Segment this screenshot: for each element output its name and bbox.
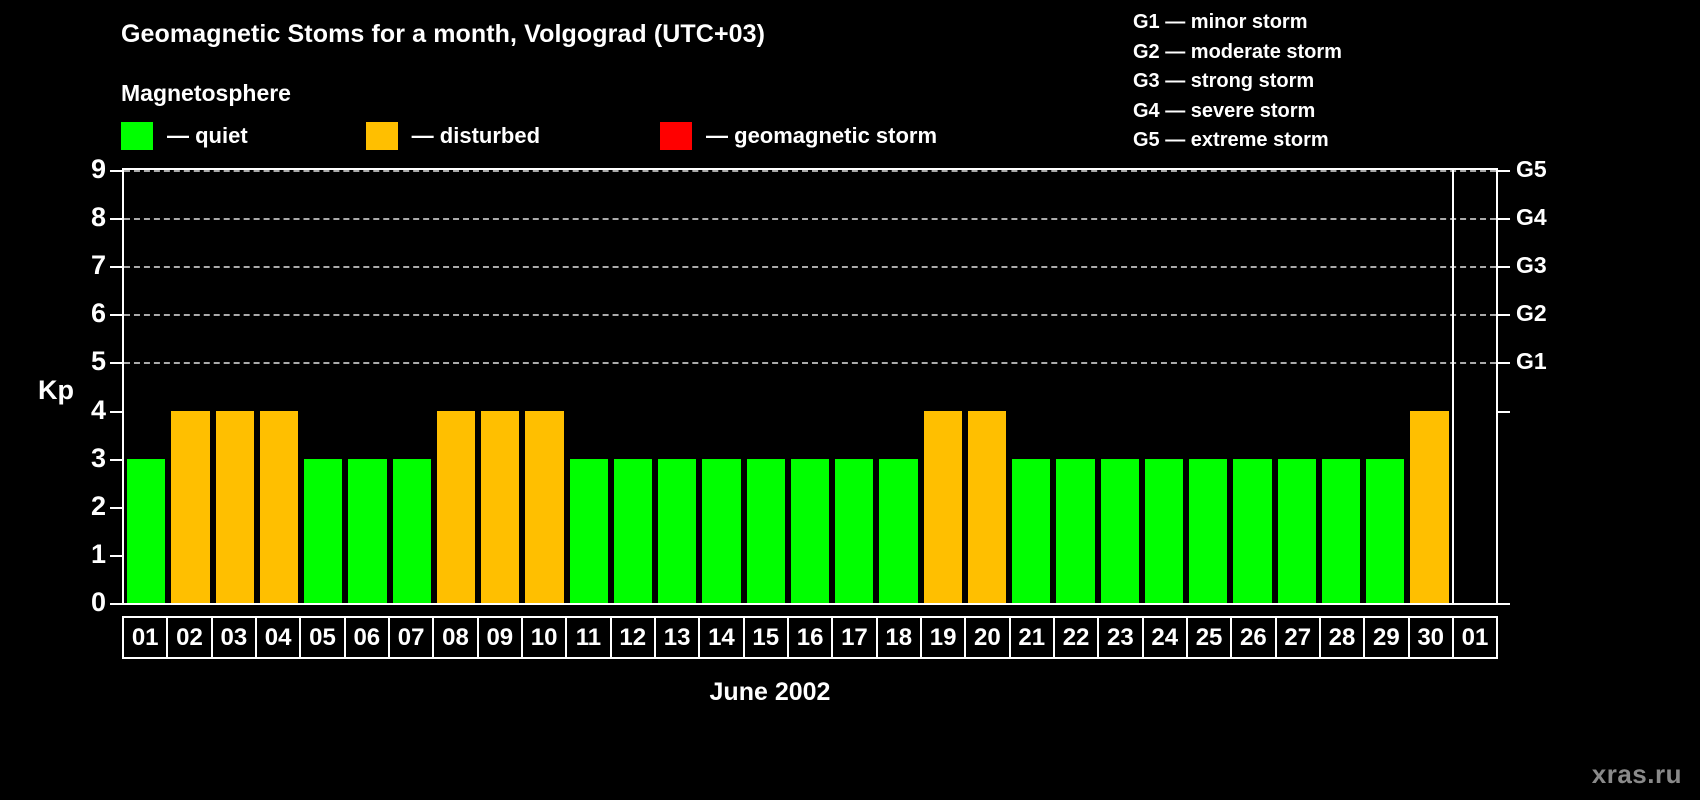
day-label-11[interactable]: 12 <box>612 618 656 657</box>
legend-entry-1: — disturbed <box>366 122 540 150</box>
g-axis-tick-kp-4 <box>1498 411 1510 413</box>
day-label-30[interactable]: 01 <box>1454 618 1496 657</box>
y-tick-3 <box>110 459 122 461</box>
y-tick-0 <box>110 603 122 605</box>
bar-day-13[interactable] <box>658 459 696 603</box>
day-label-23[interactable]: 24 <box>1144 618 1188 657</box>
gscale-row-3: G3 — strong storm <box>1133 67 1342 97</box>
y-tick-label-1: 1 <box>66 541 106 568</box>
red-square-icon <box>660 122 692 150</box>
bar-day-19[interactable] <box>924 411 962 603</box>
bar-day-15[interactable] <box>747 459 785 603</box>
g-axis-tick-kp-0 <box>1498 603 1510 605</box>
bar-day-10[interactable] <box>525 411 563 603</box>
y-tick-label-3: 3 <box>66 445 106 472</box>
legend-entry-0: — quiet <box>121 122 248 150</box>
g-axis-label-G4: G4 <box>1516 206 1576 229</box>
bar-day-02[interactable] <box>171 411 209 603</box>
bars-layer <box>124 170 1496 603</box>
bar-day-25[interactable] <box>1189 459 1227 603</box>
day-label-14[interactable]: 15 <box>745 618 789 657</box>
bar-day-16[interactable] <box>791 459 829 603</box>
month-separator <box>1452 170 1454 603</box>
bar-day-09[interactable] <box>481 411 519 603</box>
y-tick-label-8: 8 <box>66 204 106 231</box>
day-label-0[interactable]: 01 <box>124 618 168 657</box>
y-tick-label-5: 5 <box>66 348 106 375</box>
day-label-3[interactable]: 04 <box>257 618 301 657</box>
x-axis-title: June 2002 <box>0 678 1540 707</box>
plot-area <box>122 168 1498 605</box>
day-label-2[interactable]: 03 <box>213 618 257 657</box>
day-label-26[interactable]: 27 <box>1277 618 1321 657</box>
bar-day-14[interactable] <box>702 459 740 603</box>
gscale-row-4: G4 — severe storm <box>1133 97 1342 127</box>
bar-day-06[interactable] <box>348 459 386 603</box>
g-axis-tick-G5 <box>1498 170 1510 172</box>
g-axis-label-G3: G3 <box>1516 254 1576 277</box>
g-axis-tick-G2 <box>1498 314 1510 316</box>
day-label-29[interactable]: 30 <box>1410 618 1454 657</box>
bar-day-05[interactable] <box>304 459 342 603</box>
bar-day-24[interactable] <box>1145 459 1183 603</box>
legend-heading: Magnetosphere <box>121 80 291 107</box>
green-square-icon <box>121 122 153 150</box>
day-label-12[interactable]: 13 <box>656 618 700 657</box>
day-label-10[interactable]: 11 <box>567 618 611 657</box>
y-tick-label-6: 6 <box>66 300 106 327</box>
g-axis-tick-G4 <box>1498 218 1510 220</box>
y-axis-title: Kp <box>38 375 74 406</box>
day-label-16[interactable]: 17 <box>833 618 877 657</box>
legend-entry-label: — disturbed <box>412 123 540 149</box>
y-tick-1 <box>110 555 122 557</box>
bar-day-17[interactable] <box>835 459 873 603</box>
magnetosphere-legend: — quiet— disturbed— geomagnetic storm <box>121 122 937 150</box>
day-label-9[interactable]: 10 <box>523 618 567 657</box>
gscale-row-1: G1 — minor storm <box>1133 8 1342 38</box>
x-axis-day-labels: 0102030405060708091011121314151617181920… <box>122 616 1498 659</box>
bar-day-11[interactable] <box>570 459 608 603</box>
gscale-row-2: G2 — moderate storm <box>1133 38 1342 68</box>
y-tick-2 <box>110 507 122 509</box>
day-label-7[interactable]: 08 <box>434 618 478 657</box>
bar-day-07[interactable] <box>393 459 431 603</box>
bar-day-01[interactable] <box>127 459 165 603</box>
page-title: Geomagnetic Stoms for a month, Volgograd… <box>121 20 765 49</box>
gscale-row-5: G5 — extreme storm <box>1133 126 1342 156</box>
y-tick-6 <box>110 314 122 316</box>
bar-day-28[interactable] <box>1322 459 1360 603</box>
bar-day-21[interactable] <box>1012 459 1050 603</box>
day-label-19[interactable]: 20 <box>966 618 1010 657</box>
bar-day-12[interactable] <box>614 459 652 603</box>
day-label-18[interactable]: 19 <box>922 618 966 657</box>
bar-day-18[interactable] <box>879 459 917 603</box>
g-axis-tick-G3 <box>1498 266 1510 268</box>
day-label-8[interactable]: 09 <box>479 618 523 657</box>
bar-day-26[interactable] <box>1233 459 1271 603</box>
day-label-17[interactable]: 18 <box>878 618 922 657</box>
day-label-5[interactable]: 06 <box>346 618 390 657</box>
orange-square-icon <box>366 122 398 150</box>
bar-day-04[interactable] <box>260 411 298 603</box>
bar-day-27[interactable] <box>1278 459 1316 603</box>
day-label-13[interactable]: 14 <box>700 618 744 657</box>
legend-entry-label: — quiet <box>167 123 248 149</box>
day-label-25[interactable]: 26 <box>1232 618 1276 657</box>
g-axis-tick-G1 <box>1498 362 1510 364</box>
y-tick-8 <box>110 218 122 220</box>
y-tick-label-0: 0 <box>66 589 106 616</box>
y-tick-label-7: 7 <box>66 252 106 279</box>
day-label-28[interactable]: 29 <box>1365 618 1409 657</box>
g-axis-label-G5: G5 <box>1516 158 1576 181</box>
day-label-21[interactable]: 22 <box>1055 618 1099 657</box>
y-tick-label-9: 9 <box>66 156 106 183</box>
day-label-15[interactable]: 16 <box>789 618 833 657</box>
y-tick-7 <box>110 266 122 268</box>
day-label-4[interactable]: 05 <box>301 618 345 657</box>
bar-day-22[interactable] <box>1056 459 1094 603</box>
day-label-20[interactable]: 21 <box>1011 618 1055 657</box>
bar-day-29[interactable] <box>1366 459 1404 603</box>
day-label-24[interactable]: 25 <box>1188 618 1232 657</box>
watermark: xras.ru <box>1592 759 1682 790</box>
bar-day-03[interactable] <box>216 411 254 603</box>
y-tick-4 <box>110 411 122 413</box>
day-label-27[interactable]: 28 <box>1321 618 1365 657</box>
y-tick-5 <box>110 362 122 364</box>
bar-day-30[interactable] <box>1410 411 1448 603</box>
day-label-22[interactable]: 23 <box>1099 618 1143 657</box>
y-tick-9 <box>110 170 122 172</box>
day-label-6[interactable]: 07 <box>390 618 434 657</box>
day-label-1[interactable]: 02 <box>168 618 212 657</box>
plot-inner <box>124 170 1496 603</box>
g-axis-label-G1: G1 <box>1516 350 1576 373</box>
gscale-legend: G1 — minor stormG2 — moderate stormG3 — … <box>1133 8 1342 156</box>
bar-day-23[interactable] <box>1101 459 1139 603</box>
g-axis-label-G2: G2 <box>1516 302 1576 325</box>
bar-day-08[interactable] <box>437 411 475 603</box>
legend-entry-label: — geomagnetic storm <box>706 123 937 149</box>
y-tick-label-2: 2 <box>66 493 106 520</box>
bar-day-20[interactable] <box>968 411 1006 603</box>
legend-entry-2: — geomagnetic storm <box>660 122 937 150</box>
